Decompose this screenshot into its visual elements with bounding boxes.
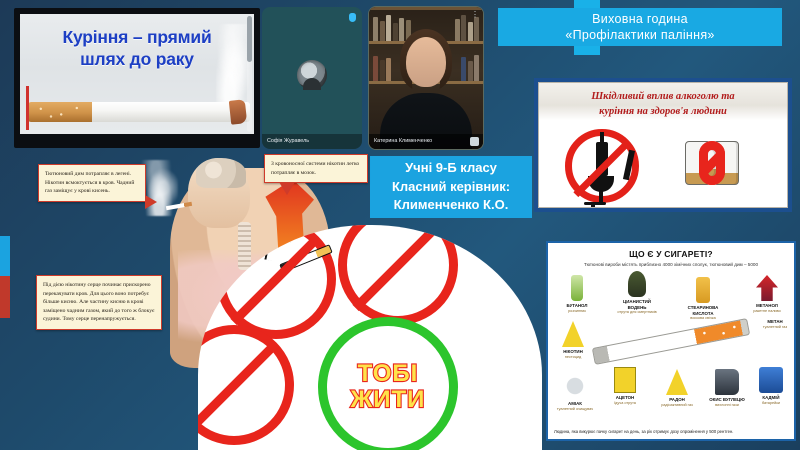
puff-icon [565,373,585,399]
brain-illustration [196,158,246,188]
chemical-methanol: МЕТАНОЛ ракетне паливо [744,275,790,313]
candle-icon [696,277,710,303]
smoke-curl-icon [264,232,291,264]
slide-content: Куріння – прямий шлях до раку [20,14,254,134]
chemical-desc: радіоактивний газ [654,403,700,408]
alcohol-smoking-poster[interactable]: Шкідливий вплив алкоголю та куріння на з… [534,78,792,212]
chemical-acetone: АЦЕТОН їдуча отрута [602,367,648,405]
speaker-face [406,37,446,87]
no-alcohol-icon [338,225,458,325]
banner-tab-bottom [574,46,600,55]
radiation-icon [666,369,688,395]
chemical-desc: воскова свічка [680,316,726,321]
infographic-canvas: БУТАНОЛ розчинник ЦИАНИСТИЙ ВОДЕНЬ отрут… [548,269,794,419]
screenshot-canvas: Куріння – прямий шлях до раку Софія Жура… [0,0,800,450]
chemical-cadmium: КАДМІЙ батарейки [748,367,794,405]
cigarette-filter [28,102,92,122]
chemical-desc: отрута для смертників [614,310,660,315]
chemical-desc: ракетне паливо [744,309,790,314]
flask-icon [628,271,646,297]
choose-life-badge: ТОБІ ЖИТИ [318,317,458,450]
poster-title-line2: куріння на здоров'я людини [547,104,779,119]
chemical-desc: туалетний газ [752,325,798,330]
chemical-name: ОКИС ВУГЛЕЦЮ [704,397,750,403]
battery-icon [759,367,783,393]
video-tile-speaker[interactable]: ⋮ Катерина Клименченко [368,6,484,150]
poster-artwork [545,127,781,203]
cigarette-icon [623,150,635,181]
left-accent-strip-blue [0,236,10,276]
cigarette-ember [229,99,247,125]
chemical-hydrogen-cyanide: ЦИАНИСТИЙ ВОДЕНЬ отрута для смертників [614,271,660,315]
video-tile-self[interactable]: Софія Журавель [262,7,362,149]
pin-icon[interactable] [470,137,479,146]
presentation-slide[interactable]: Куріння – прямий шлях до раку [14,8,260,148]
chemical-desc: розчинник [554,309,600,314]
slide-scrollbar[interactable] [247,16,252,132]
banner-tab-top [574,0,600,8]
chemical-desc: туалетний очищувач [552,407,598,412]
smoke-icon [216,24,250,104]
flashlight-icon [715,369,739,395]
poster-inner: Шкідливий вплив алкоголю та куріння на з… [538,82,788,208]
microphone-icon[interactable] [349,13,356,22]
chemical-nicotine: НІКОТИН пестицид [550,321,596,359]
chemical-desc: батарейки [748,401,794,406]
warning-triangle-icon [562,321,584,347]
infographic-subtitle: Тютюнові вироби містять приблизно 4000 х… [548,262,794,267]
chemical-ammonia: АМІАК туалетний очищувач [552,373,598,411]
chemical-stearic-acid: СТЕАРИНОВА КИСЛОТА воскова свічка [680,277,726,321]
chemical-butanol: БУТАНОЛ розчинник [554,275,600,313]
bottle-icon [571,275,583,301]
heart-callout-text: Під дією нікотину серце починає прискоре… [43,282,154,322]
stop-word-cigarettes [653,137,771,189]
bottle-icon [596,142,608,176]
chemical-methane: МЕТАН туалетний газ [752,319,798,329]
banner-line-2: «Профілактики паління» [565,27,714,43]
glass-icon [588,176,614,192]
heart-callout: Під дією нікотину серце починає прискоре… [36,275,162,330]
chemical-desc: пестицид [550,355,596,360]
infographic-title: ЩО Є У СИГАРЕТІ? [548,249,794,259]
wine-glass-icon [529,225,542,266]
chemical-name: СТЕАРИНОВА КИСЛОТА [680,305,726,316]
no-drugs-icon [198,325,294,445]
chemical-radon: РАДОН радіоактивний газ [654,369,700,407]
avatar [297,60,327,90]
participant-name: Софія Журавель [262,134,362,149]
chemical-name: ЦИАНИСТИЙ ВОДЕНЬ [614,299,660,310]
cigarette-contents-infographic[interactable]: ЩО Є У СИГАРЕТІ? Тютюнові вироби містять… [546,241,796,441]
participant-name: Катерина Клименченко [369,134,483,149]
lungs-callout-text: Тютюновий дим потрапляє в легені. Нікоти… [45,171,134,194]
life-text-line1: ТОБІ [358,361,419,387]
infographic-footer: Людина, яка викурює пачку сигарет на ден… [554,429,788,435]
no-alcohol-icon [565,129,639,203]
chemical-desc: їдуча отрута [602,401,648,406]
brain-callout-text: З кровоносної системи нікотин легко потр… [271,161,359,176]
chemical-desc: вихлопні гази [704,403,750,408]
more-options-icon[interactable]: ⋮ [471,11,479,19]
cigarette-illustration [592,318,750,365]
no-smoking-icon [216,225,336,339]
lungs-callout: Тютюновий дим потрапляє в легені. Нікоти… [38,164,146,202]
life-text-line2: ЖИТИ [351,387,426,413]
slide-accent-bar [26,86,29,130]
poster-title-line1: Шкідливий вплив алкоголю та [547,89,779,104]
page-title-banner: Виховна година «Профілактики паління» [498,8,782,46]
poster-title: Шкідливий вплив алкоголю та куріння на з… [547,89,779,119]
chemical-carbon-monoxide: ОКИС ВУГЛЕЦЮ вихлопні гази [704,369,750,407]
acetone-icon [614,367,636,393]
rocket-icon [756,275,778,301]
banner-line-1: Виховна година [592,11,688,27]
brain-callout: З кровоносної системи нікотин легко потр… [264,154,368,183]
